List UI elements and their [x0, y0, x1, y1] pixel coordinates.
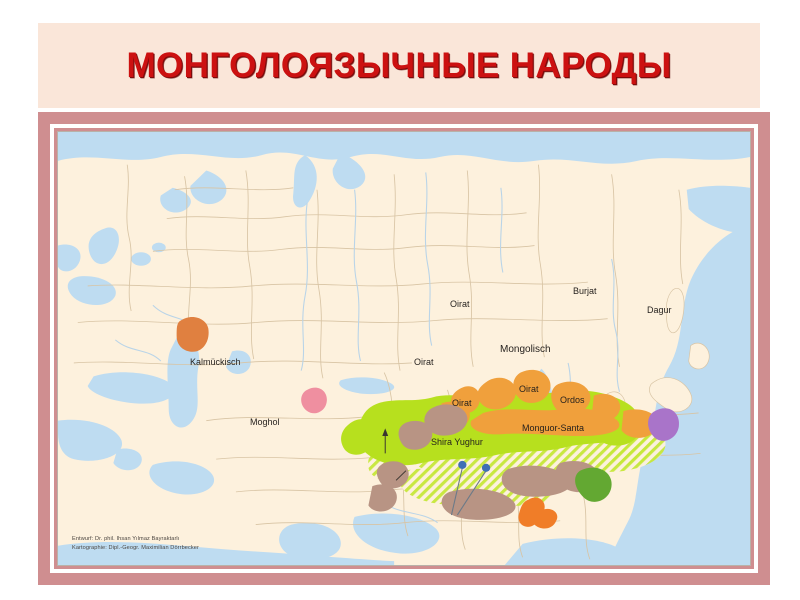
map-label-dagur: Dagur [647, 306, 672, 315]
map-image: Oirat Burjat Dagur Mongolisch Kalmückisc… [57, 131, 751, 566]
map-label-oirat-north: Oirat [450, 300, 470, 309]
credits-line-kartographie: Kartographie: Dipl.-Geogr. Maximilian Dö… [72, 544, 199, 553]
map-label-ordos: Ordos [560, 396, 585, 405]
map-label-monguor-santa: Monguor-Santa [522, 424, 584, 433]
map-label-burjat: Burjat [573, 287, 597, 296]
map-frame-white-mat: Oirat Burjat Dagur Mongolisch Kalmückisc… [50, 124, 758, 573]
shira-yughur-marker-east [482, 464, 490, 472]
map-label-kalmueckisch: Kalmückisch [190, 358, 241, 367]
page-title: МОНГОЛОЯЗЫЧНЫЕ НАРОДЫ [38, 23, 760, 108]
shira-yughur-marker-west [458, 461, 466, 469]
map-label-oirat-west: Oirat [414, 358, 434, 367]
map-credits: Entwurf: Dr. phil. Ihsan Yılmaz Bayrakta… [72, 535, 199, 553]
map-label-oirat-south: Oirat [519, 385, 539, 394]
map-label-mongolisch: Mongolisch [500, 345, 551, 355]
map-label-moghol: Moghol [250, 418, 280, 427]
map-label-shira-yughur: Shira Yughur [431, 438, 483, 447]
credits-line-entwurf: Entwurf: Dr. phil. Ihsan Yılmaz Bayrakta… [72, 535, 199, 544]
slide: МОНГОЛОЯЗЫЧНЫЕ НАРОДЫ [0, 0, 800, 600]
map-label-oirat-southwest: Oirat [452, 399, 472, 408]
title-band: МОНГОЛОЯЗЫЧНЫЕ НАРОДЫ [38, 23, 760, 108]
map-frame-rose-liner: Oirat Burjat Dagur Mongolisch Kalmückisc… [54, 128, 754, 569]
map-frame: Oirat Burjat Dagur Mongolisch Kalmückisc… [38, 112, 770, 585]
map-graphic [58, 132, 750, 565]
